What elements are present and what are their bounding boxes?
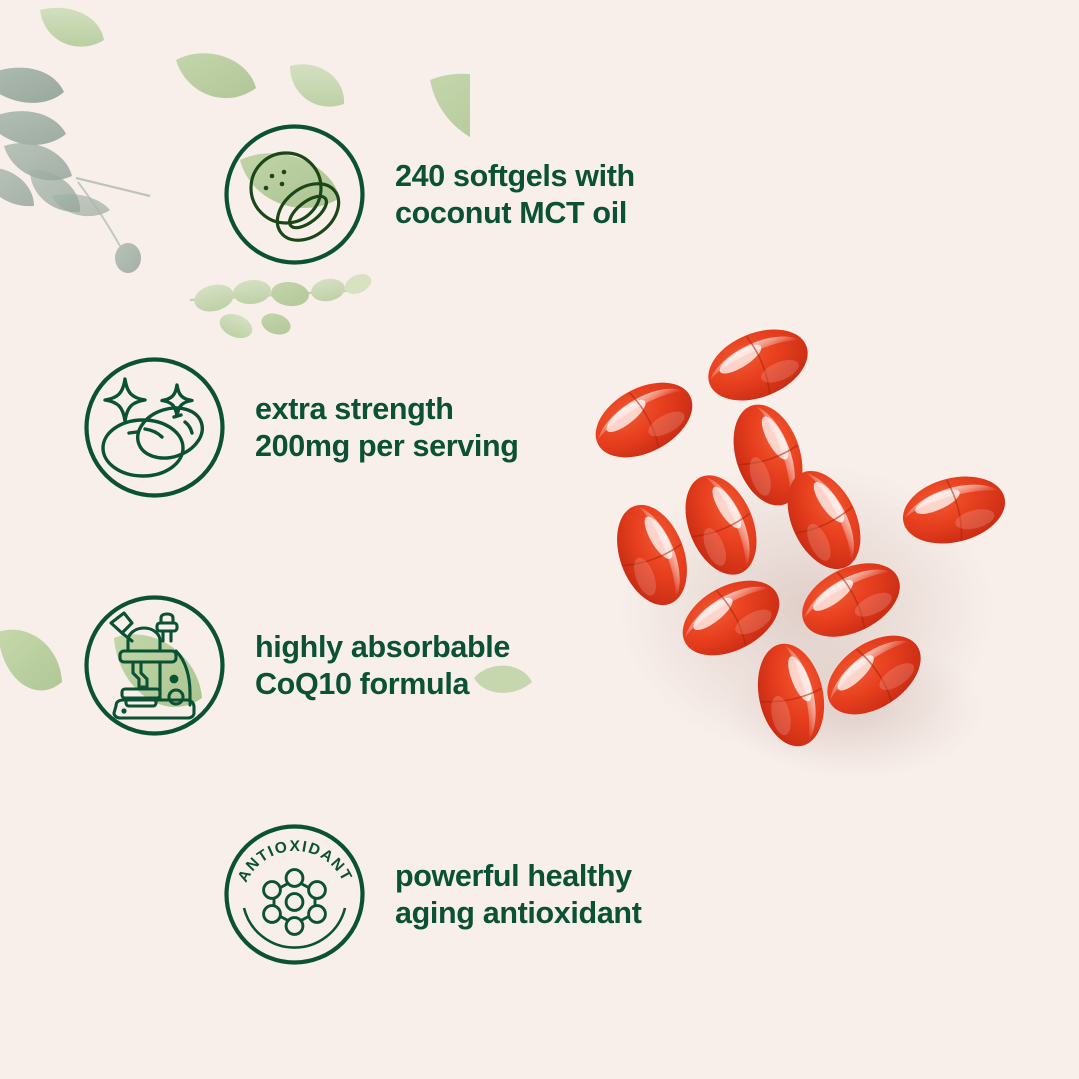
feature-row-absorbable: highly absorbable CoQ10 formula	[82, 593, 510, 738]
product-feature-infographic: 240 softgels with coconut MCT oil extra …	[0, 0, 1079, 1079]
coconut-icon	[222, 122, 367, 267]
antioxidant-badge-icon: ANTIOXIDANT	[222, 822, 367, 967]
feature-label: highly absorbable CoQ10 formula	[255, 629, 510, 702]
feature-label: powerful healthy aging antioxidant	[395, 858, 642, 931]
sparkle-softgels-icon	[82, 355, 227, 500]
feature-row-softgel-count: 240 softgels with coconut MCT oil	[222, 122, 635, 267]
red-softgel-capsules-image	[556, 310, 1026, 780]
microscope-icon	[82, 593, 227, 738]
capsule	[698, 316, 818, 414]
capsule	[583, 367, 705, 472]
feature-row-strength: extra strength 200mg per serving	[82, 355, 519, 500]
feature-label: 240 softgels with coconut MCT oil	[395, 158, 635, 231]
feature-label: extra strength 200mg per serving	[255, 391, 519, 464]
feature-row-antioxidant: ANTIOXIDANT powerful healthy aging antio…	[222, 822, 642, 967]
